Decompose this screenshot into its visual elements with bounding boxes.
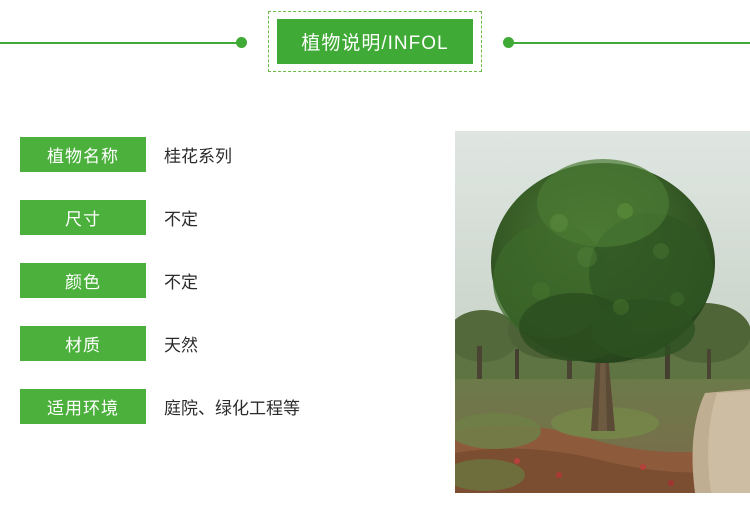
spec-label: 尺寸 — [20, 200, 146, 235]
spec-list: 植物名称 桂花系列 尺寸 不定 颜色 不定 材质 天然 适用环境 庭院、绿化工程… — [20, 133, 440, 448]
spec-label: 材质 — [20, 326, 146, 361]
spec-label: 颜色 — [20, 263, 146, 298]
page-title: 植物说明/INFOL — [277, 19, 473, 64]
spec-row: 颜色 不定 — [20, 259, 440, 301]
spec-row: 材质 天然 — [20, 322, 440, 364]
spec-row: 植物名称 桂花系列 — [20, 133, 440, 175]
spec-value: 庭院、绿化工程等 — [164, 394, 300, 419]
spec-row: 尺寸 不定 — [20, 196, 440, 238]
spec-value: 不定 — [164, 268, 198, 293]
spec-value: 天然 — [164, 331, 198, 356]
header-rule-right — [512, 42, 750, 44]
spec-label: 植物名称 — [20, 137, 146, 172]
spec-row: 适用环境 庭院、绿化工程等 — [20, 385, 440, 427]
product-photo — [455, 131, 750, 493]
header-banner: 植物说明/INFOL — [0, 0, 750, 88]
spec-value: 桂花系列 — [164, 142, 232, 167]
header-dot-left — [236, 37, 247, 48]
spec-label: 适用环境 — [20, 389, 146, 424]
spec-value: 不定 — [164, 205, 198, 230]
header-rule-left — [0, 42, 240, 44]
